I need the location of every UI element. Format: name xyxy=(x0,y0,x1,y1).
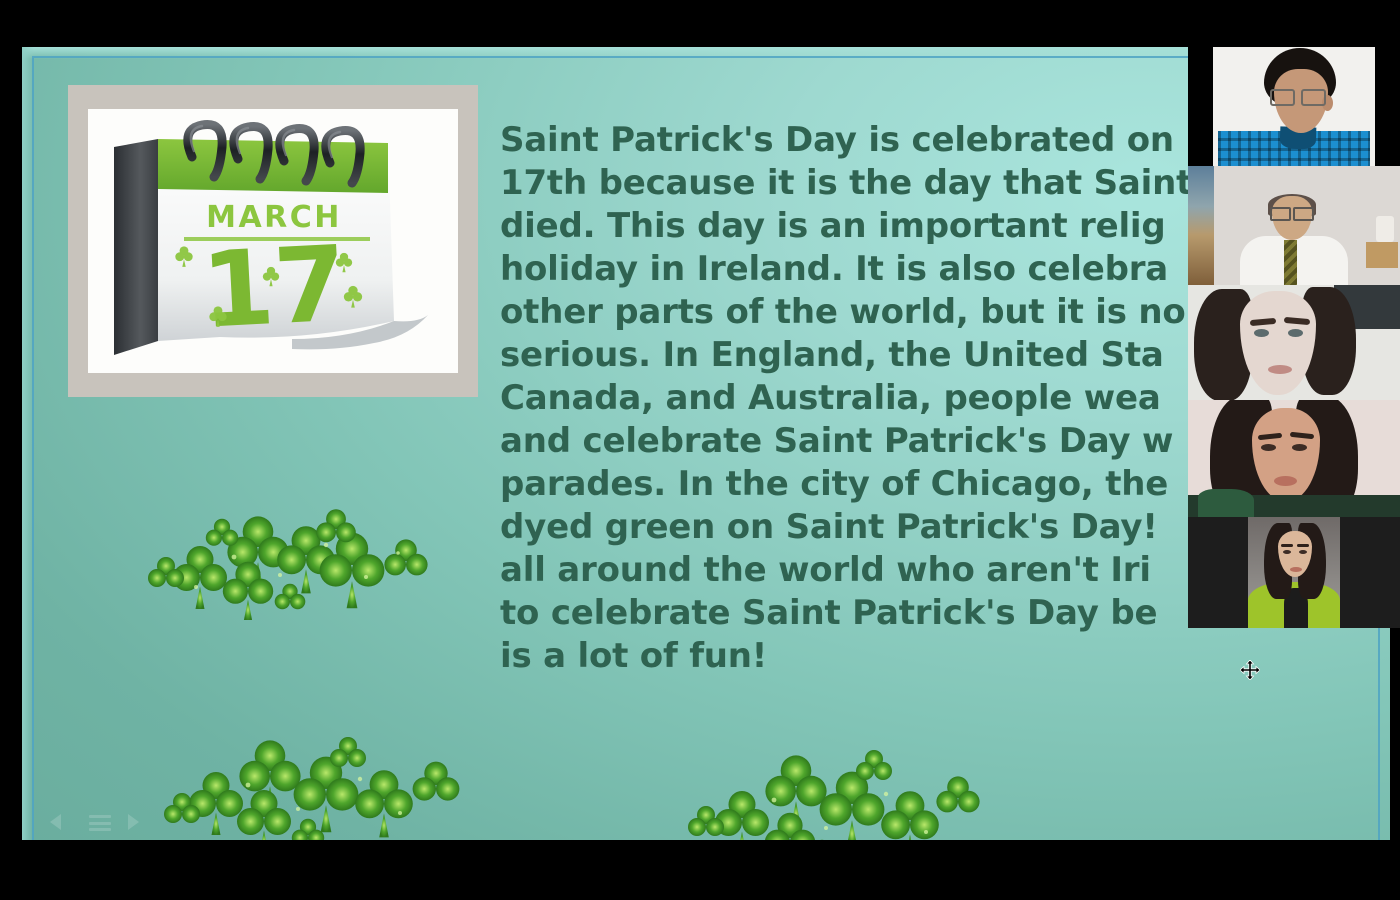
participant-video-frame xyxy=(1188,400,1400,517)
menu-line xyxy=(89,822,111,825)
chevron-right-icon xyxy=(128,814,139,830)
participant-video-frame xyxy=(1188,285,1400,400)
participant-tile[interactable] xyxy=(1188,400,1400,517)
march-17-calendar-icon: MARCH 17 xyxy=(88,109,458,373)
menu-line xyxy=(89,815,111,818)
slide-body-line: died. This day is an important relig xyxy=(500,205,1260,248)
calendar-picture-frame[interactable]: MARCH 17 xyxy=(68,85,478,397)
next-slide-button[interactable] xyxy=(128,814,150,832)
slide-body-line: Canada, and Australia, people wea xyxy=(500,377,1260,420)
calendar-picture-canvas: MARCH 17 xyxy=(88,109,458,373)
participant-tile[interactable] xyxy=(1188,166,1400,285)
svg-text:17: 17 xyxy=(199,222,350,351)
chevron-left-icon xyxy=(50,814,61,830)
previous-slide-button[interactable] xyxy=(50,814,72,832)
shamrock-cluster-icon xyxy=(130,495,460,620)
menu-line xyxy=(89,828,111,831)
slide-menu-button[interactable] xyxy=(89,815,111,831)
participant-tile[interactable] xyxy=(1188,47,1400,166)
shared-slide[interactable]: MARCH 17 xyxy=(22,47,1390,840)
slide-body-text: Saint Patrick's Day is celebrated on 17t… xyxy=(500,119,1260,678)
screen-share-window: MARCH 17 xyxy=(0,0,1400,900)
slide-body-line: other parts of the world, but it is no xyxy=(500,291,1260,334)
slide-edge-highlight-top xyxy=(22,47,1390,59)
slide-body-line: parades. In the city of Chicago, the xyxy=(500,463,1260,506)
slide-body-line: serious. In England, the United Sta xyxy=(500,334,1260,377)
participant-video-strip xyxy=(1188,47,1400,628)
slide-body-line: holiday in Ireland. It is also celebra xyxy=(500,248,1260,291)
participant-video-frame xyxy=(1188,47,1400,166)
participant-tile[interactable] xyxy=(1188,517,1400,628)
slide-body-line: 17th because it is the day that Saint xyxy=(500,162,1260,205)
move-cursor-icon xyxy=(1240,660,1260,680)
participant-tile[interactable] xyxy=(1188,285,1400,400)
shamrock-cluster-icon xyxy=(672,742,1012,840)
slide-body-line: dyed green on Saint Patrick's Day! xyxy=(500,506,1260,549)
presentation-controls[interactable] xyxy=(50,814,150,832)
participant-video-frame xyxy=(1188,166,1400,285)
slide-body-line: all around the world who aren't Iri xyxy=(500,549,1260,592)
slide-body-line: is a lot of fun! xyxy=(500,635,1260,678)
shamrock-cluster-icon xyxy=(152,725,492,840)
slide-edge-highlight-left xyxy=(22,47,34,840)
slide-body-line: Saint Patrick's Day is celebrated on xyxy=(500,119,1260,162)
slide-body-line: and celebrate Saint Patrick's Day w xyxy=(500,420,1260,463)
slide-body-line: to celebrate Saint Patrick's Day be xyxy=(500,592,1260,635)
participant-video-frame xyxy=(1188,517,1400,628)
